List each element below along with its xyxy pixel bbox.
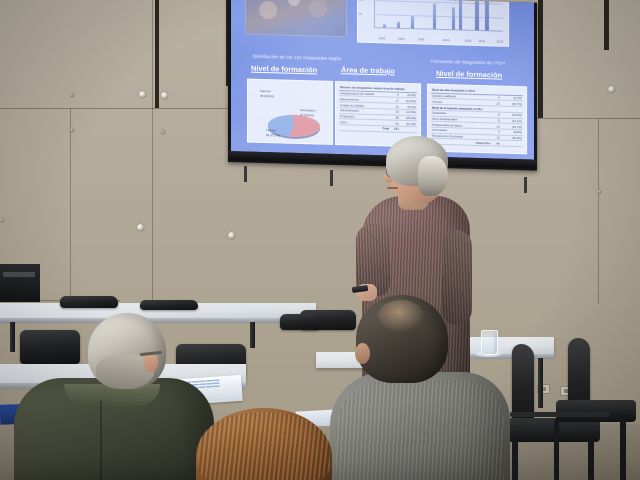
chart-gridline bbox=[375, 14, 503, 19]
wall-screw bbox=[161, 130, 165, 134]
back-table-edge bbox=[0, 318, 316, 323]
chair-rail bbox=[510, 412, 610, 417]
chart-plot-area bbox=[374, 0, 503, 32]
screen-leg bbox=[244, 166, 247, 182]
chart-bar bbox=[485, 0, 489, 30]
table-leg bbox=[10, 322, 15, 352]
chart-bar bbox=[433, 4, 436, 29]
presenter-hair-side bbox=[418, 156, 448, 196]
presentation-slide: 200 150 100 50 1993 1995 1998 2004 2009 … bbox=[231, 0, 534, 160]
chair[interactable] bbox=[140, 300, 198, 310]
chair-leg bbox=[554, 420, 559, 480]
table-leg bbox=[250, 322, 255, 348]
total-label: Total bbox=[339, 125, 390, 132]
chart-x-tick: 2013 bbox=[497, 41, 504, 44]
wall-screw bbox=[608, 86, 615, 93]
chart-x-tick: 1998 bbox=[418, 38, 425, 41]
slide-left-subtitle: Nivel de formación bbox=[251, 64, 317, 75]
pie-value-superior: 48 (36,6%) bbox=[260, 95, 274, 99]
audience-member-auburn-hair-strands bbox=[198, 412, 330, 480]
slide-photo-image bbox=[245, 0, 347, 37]
wall-screw bbox=[70, 93, 74, 97]
chair[interactable] bbox=[280, 314, 320, 330]
suit-pinstripe-texture bbox=[336, 380, 504, 480]
chart-bar bbox=[452, 8, 455, 30]
wall-seam bbox=[70, 108, 71, 308]
chart-x-tick: 1993 bbox=[379, 37, 386, 40]
slide-right-subtitle: Nivel de formación bbox=[436, 69, 502, 80]
chart-bar bbox=[475, 0, 479, 30]
chart-x-tick: 1995 bbox=[398, 38, 405, 41]
wall-gap bbox=[604, 0, 609, 50]
presenter-mouth bbox=[387, 187, 398, 189]
wall-seam bbox=[536, 118, 640, 119]
chart-x-tick: 2009 bbox=[465, 40, 472, 43]
table-leg bbox=[538, 358, 543, 408]
slide-center-subtitle: Área de trabajo bbox=[341, 65, 395, 76]
slide-pie-card: Superior 48 (36,6%) Tecnológico 47 (35,9… bbox=[247, 79, 333, 145]
slide-left-supertitle: Distribución de los 131 integrantes segú… bbox=[253, 54, 341, 61]
presenter-right-arm bbox=[442, 230, 472, 324]
chart-x-tick: 2004 bbox=[443, 39, 450, 42]
projection-screen-surface: 200 150 100 50 1993 1995 1998 2004 2009 … bbox=[231, 0, 534, 160]
wall-screw bbox=[139, 91, 146, 98]
wall-gap bbox=[538, 0, 543, 118]
chair-leg bbox=[620, 414, 626, 480]
screen-leg bbox=[330, 170, 333, 186]
table-total-row: Total 131 bbox=[339, 125, 417, 133]
wall-screw bbox=[597, 190, 601, 194]
chart-y-tick: 100 bbox=[359, 0, 363, 2]
chair[interactable] bbox=[20, 330, 80, 364]
chart-gridline bbox=[375, 0, 503, 5]
pie-value-tecnologico: 47 (35,9%) bbox=[300, 114, 314, 118]
cabinet bbox=[0, 264, 40, 302]
slide-bar-chart: 200 150 100 50 1993 1995 1998 2004 2009 … bbox=[357, 0, 509, 47]
screen-leg bbox=[524, 177, 527, 193]
wall-screw bbox=[0, 218, 4, 222]
jacket-seam bbox=[100, 400, 102, 480]
total-value: 131 bbox=[390, 126, 400, 132]
chart-y-tick: 50 bbox=[359, 14, 362, 17]
wall-screw bbox=[137, 224, 144, 231]
wall-screw bbox=[70, 128, 74, 132]
cabinet-slot bbox=[3, 272, 35, 277]
slide-right-supertitle: Formación de integrantes de I+D+i bbox=[431, 59, 505, 66]
pie-value-tecnico: 36 (27,5%) bbox=[266, 134, 280, 138]
audience-member-gray-suit-ear bbox=[355, 343, 370, 364]
wall-screw bbox=[228, 232, 235, 239]
chart-bar bbox=[397, 21, 400, 28]
wall-seam bbox=[598, 118, 599, 304]
chart-bar bbox=[459, 0, 462, 30]
wall-seam bbox=[152, 0, 153, 108]
wall-screw bbox=[161, 92, 168, 99]
audience-member-gray-suit-bald-spot bbox=[378, 300, 424, 332]
presentation-room-photo: 200 150 100 50 1993 1995 1998 2004 2009 … bbox=[0, 0, 640, 480]
chair-leg bbox=[512, 440, 518, 480]
wall-seam bbox=[0, 108, 228, 109]
area-de-trabajo-table: Número de integrantes según área de trab… bbox=[339, 85, 417, 133]
wall-gap bbox=[155, 0, 159, 108]
wall-seam bbox=[152, 108, 153, 308]
chart-bar bbox=[411, 16, 414, 28]
chart-x-tick: 2011 bbox=[479, 40, 485, 43]
chair-leg bbox=[588, 436, 594, 480]
chart-bar bbox=[383, 24, 386, 27]
chair[interactable] bbox=[60, 296, 118, 308]
